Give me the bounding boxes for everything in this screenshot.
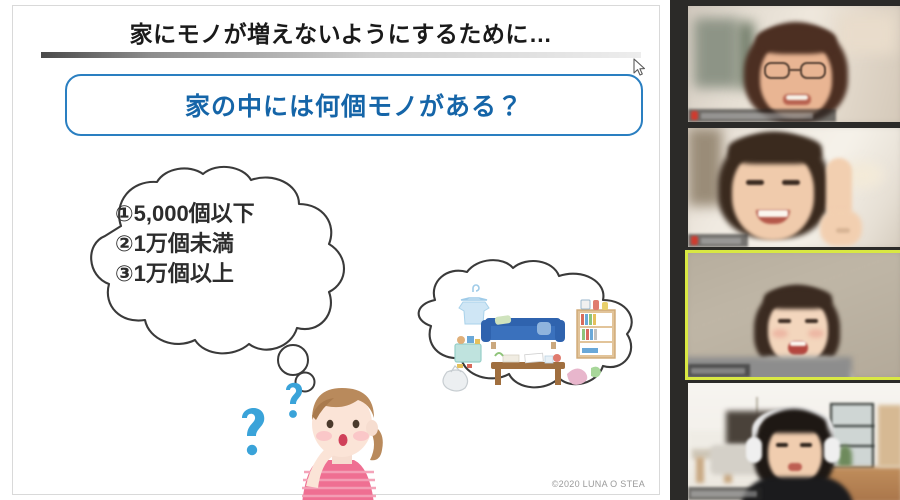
screen-share-window: 家にモノが増えないようにするために… 家の中には何個モノがある？ ①5,000個… [0, 0, 900, 500]
question-text: 家の中には何個モノがある？ [185, 87, 523, 123]
person-shape [228, 374, 398, 500]
participant-name-label-1 [688, 109, 836, 122]
question-mark-icon-small [286, 383, 302, 418]
redacted-name [691, 491, 757, 497]
video-tile-participant-1[interactable] [688, 6, 900, 122]
video-tile-participant-2[interactable] [688, 128, 900, 247]
participant-name-label-2 [688, 234, 748, 247]
slide-frame: 家にモノが増えないようにするために… 家の中には何個モノがある？ ①5,000個… [12, 5, 660, 495]
option-item-3: ③1万個以上 [115, 260, 345, 288]
trash-bag-icon [443, 366, 468, 391]
microphone-icon [691, 236, 698, 245]
mouse-pointer-icon [633, 58, 647, 78]
room-cloud-shape [391, 256, 663, 406]
redacted-name [691, 368, 745, 374]
copyright-text: ©2020 LUNA O STEA [552, 479, 645, 489]
microphone-icon [691, 111, 698, 120]
room-thought-bubble [391, 256, 663, 406]
question-box: 家の中には何個モノがある？ [65, 74, 643, 136]
video-scene-2 [688, 128, 900, 247]
thinking-person-illustration [228, 374, 398, 500]
redacted-name [701, 238, 741, 244]
shared-slide-area[interactable]: 家にモノが増えないようにするために… 家の中には何個モノがある？ ①5,000個… [0, 0, 670, 500]
video-scene-1 [688, 6, 900, 122]
option-item-2: ②1万個未満 [115, 230, 345, 258]
options-thought-bubble: ①5,000個以下 ②1万個未満 ③1万個以上 [61, 164, 371, 399]
slide-title: 家にモノが増えないようにするために… [35, 14, 647, 50]
video-tile-participant-4[interactable] [688, 383, 900, 500]
redacted-name [701, 113, 813, 119]
title-divider [41, 52, 641, 58]
video-tile-participant-3[interactable] [688, 253, 900, 377]
video-scene-3 [688, 253, 900, 377]
options-list: ①5,000個以下 ②1万個未満 ③1万個以上 [115, 200, 345, 288]
participant-name-label-4 [688, 487, 762, 500]
participant-name-label-3 [688, 364, 750, 377]
video-scene-4 [688, 383, 900, 500]
option-item-1: ①5,000個以下 [115, 200, 345, 228]
question-mark-icon [242, 408, 264, 455]
participant-video-panel[interactable] [670, 0, 900, 500]
